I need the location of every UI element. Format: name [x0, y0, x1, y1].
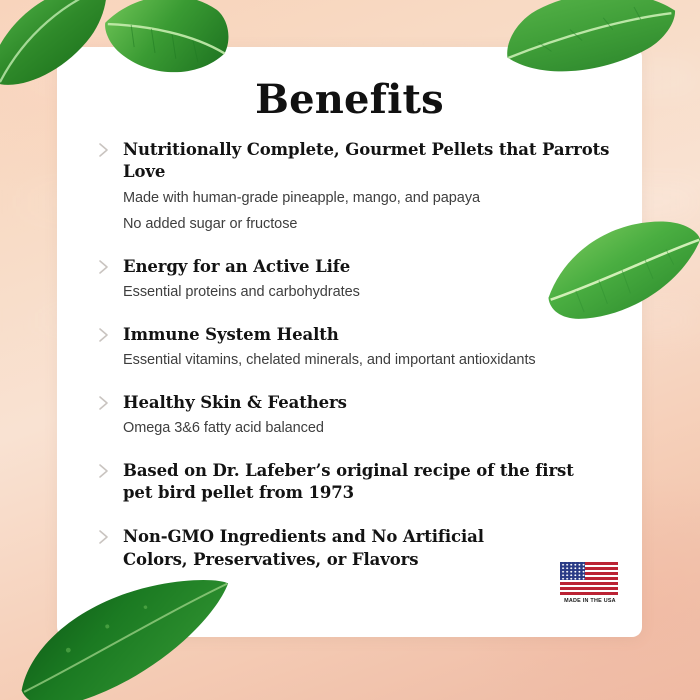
benefit-heading: Healthy Skin & Feathers [123, 392, 612, 414]
benefit-detail: Omega 3&6 fatty acid balanced [123, 417, 612, 440]
benefits-list: Nutritionally Complete, Gourmet Pellets … [97, 139, 612, 571]
leaf-right-edge-icon [535, 210, 700, 332]
benefit-detail: Essential vitamins, chelated minerals, a… [123, 349, 612, 372]
benefit-heading: Based on Dr. Lafeber’s original recipe o… [123, 460, 595, 505]
benefit-detail: Essential proteins and carbohydrates [123, 281, 612, 304]
chevron-right-icon [97, 528, 111, 546]
usa-flag-icon [560, 562, 618, 595]
made-in-usa-caption: MADE IN THE USA [560, 598, 620, 604]
made-in-usa-badge: MADE IN THE USA [560, 562, 620, 604]
chevron-right-icon [97, 326, 111, 344]
benefits-infographic: Benefits Nutritionally Complete, Gourmet… [0, 0, 700, 700]
benefit-detail: Made with human-grade pineapple, mango, … [123, 187, 612, 210]
chevron-right-icon [97, 141, 111, 159]
benefit-heading: Immune System Health [123, 324, 612, 346]
chevron-right-icon [97, 462, 111, 480]
chevron-right-icon [97, 258, 111, 276]
chevron-right-icon [97, 394, 111, 412]
benefits-card: Benefits Nutritionally Complete, Gourmet… [57, 47, 642, 637]
benefit-item: Healthy Skin & Feathers Omega 3&6 fatty … [97, 392, 612, 441]
benefit-heading: Nutritionally Complete, Gourmet Pellets … [123, 139, 612, 184]
benefit-item: Immune System Health Essential vitamins,… [97, 324, 612, 373]
benefit-item: Energy for an Active Life Essential prot… [97, 256, 612, 305]
benefit-item: Based on Dr. Lafeber’s original recipe o… [97, 460, 612, 505]
benefit-item: Non-GMO Ingredients and No Artificial Co… [97, 526, 612, 571]
benefit-heading: Non-GMO Ingredients and No Artificial Co… [123, 526, 513, 571]
benefit-item: Nutritionally Complete, Gourmet Pellets … [97, 139, 612, 237]
